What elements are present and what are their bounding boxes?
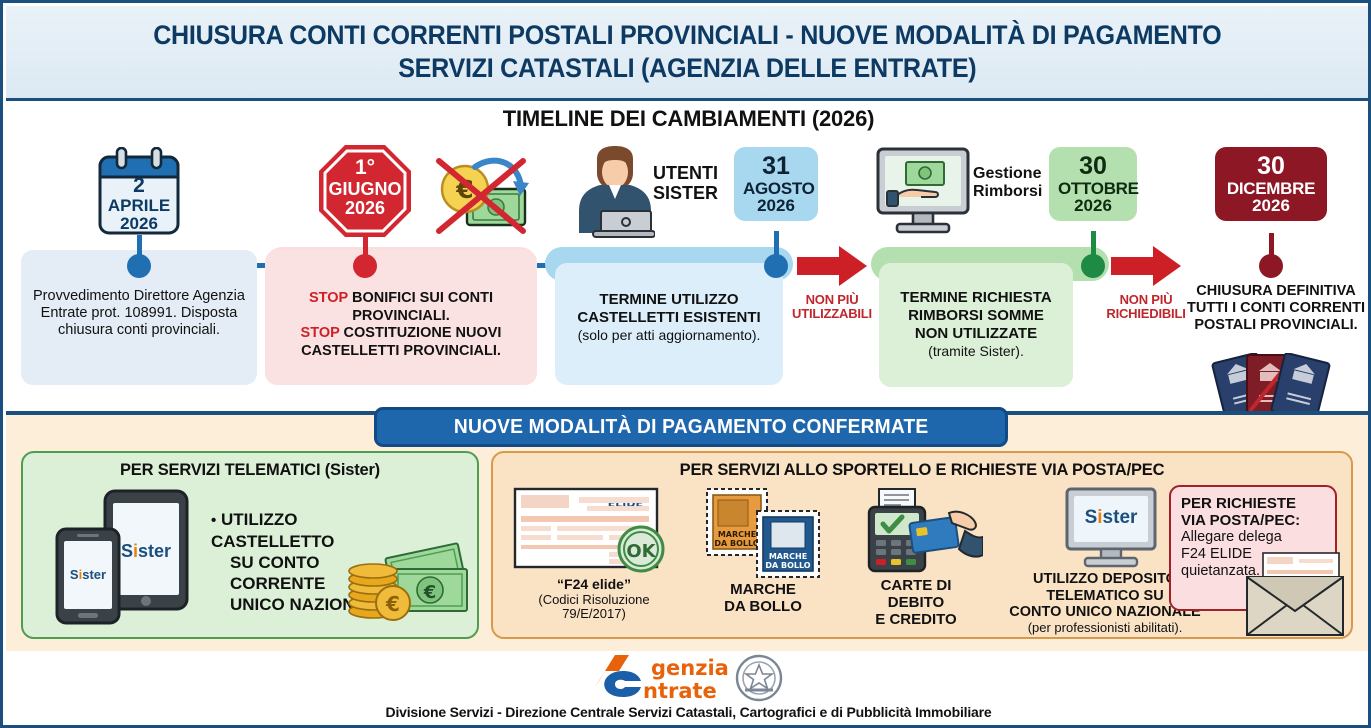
ottobre-title-l1: TERMINE RICHIESTA xyxy=(900,289,1051,306)
gestione-rimborsi-l2: Rimborsi xyxy=(973,183,1042,200)
f24-cap-l2: (Codici Risoluzione xyxy=(538,592,649,607)
ottobre-note: (tramite Sister). xyxy=(888,343,1064,360)
svg-text:DA BOLLO: DA BOLLO xyxy=(765,561,810,570)
pos-card-terminal-icon xyxy=(851,487,983,575)
gestione-rimborsi-label: Gestione Rimborsi xyxy=(973,165,1059,201)
panel-servizi-telematici: PER SERVIZI TELEMATICI (Sister) SiSister… xyxy=(21,451,479,639)
infographic-page: CHIUSURA CONTI CORRENTI POSTALI PROVINCI… xyxy=(0,0,1371,728)
f24-elide-form-icon: ELIDE OK xyxy=(513,487,671,573)
dicembre-title-l3: POSTALI PROVINCIALI. xyxy=(1194,317,1357,333)
milestone-node-aprile xyxy=(127,254,151,278)
date-box-ottobre: 30 OTTOBRE 2026 xyxy=(1049,147,1137,221)
utenti-sister-label: UTENTI SISTER xyxy=(653,163,737,203)
logo-word-ntrate: ntrate xyxy=(643,679,717,703)
page-header: CHIUSURA CONTI CORRENTI POSTALI PROVINCI… xyxy=(6,6,1368,101)
milestone-node-dicembre xyxy=(1259,254,1283,278)
payment-item-carte: CARTE DI DEBITO E CREDITO xyxy=(831,487,1001,628)
coins-banknotes-euro-icon: € € xyxy=(343,535,469,623)
deposito-cap-l2: TELEMATICO SU xyxy=(1046,588,1163,604)
f24-cap-bold: “F24 elide” xyxy=(557,576,631,592)
milestone-card-giugno: STOP BONIFICI SUI CONTI PROVINCIALI. STO… xyxy=(265,250,537,385)
gestione-rimborsi-l1: Gestione xyxy=(973,165,1041,182)
date-day-aprile: 2 xyxy=(91,175,187,197)
timeline-title: TIMELINE DEI CAMBIAMENTI (2026) xyxy=(3,106,1371,132)
panel-right-title: PER SERVIZI ALLO SPORTELLO E RICHIESTE V… xyxy=(493,461,1351,480)
milestone-node-ottobre xyxy=(1081,254,1105,278)
arrow-label-2-l2: RICHIEDIBILI xyxy=(1106,306,1185,321)
milestone-giugno-text: STOP BONIFICI SUI CONTI PROVINCIALI. STO… xyxy=(274,290,528,361)
svg-text:DA BOLLO: DA BOLLO xyxy=(714,539,759,548)
milestone-node-agosto xyxy=(764,254,788,278)
payment-item-marche: MARCHE DA BOLLO MARCHE DA BOLLO MARCHE D… xyxy=(683,487,843,615)
ottobre-title-l2: RIMBORSI SOMME xyxy=(908,307,1044,324)
sister-monitor-icon: Sister xyxy=(1063,487,1159,569)
date-day-ottobre: 30 xyxy=(1058,154,1128,180)
ok-badge: OK xyxy=(626,541,656,562)
marche-cap-l2: DA BOLLO xyxy=(724,598,802,615)
page-title: CHIUSURA CONTI CORRENTI POSTALI PROVINCI… xyxy=(129,19,1246,85)
calendar-icon: 2 APRILE 2026 xyxy=(91,147,187,239)
svg-text:MARCHE: MARCHE xyxy=(769,552,807,561)
stop-keyword-2: STOP xyxy=(301,325,340,341)
giugno-line1: BONIFICI SUI CONTI xyxy=(348,290,493,306)
agosto-title-l2: CASTELLETTI ESISTENTI xyxy=(577,309,760,326)
deposito-cap-l4: (per professionisti abilitati). xyxy=(1028,620,1183,635)
footer-subtitle: Divisione Servizi - Direzione Centrale S… xyxy=(3,704,1371,720)
arrow-label-1: NON PIÙ UTILIZZABILI xyxy=(789,293,875,322)
bullet-l1: UTILIZZO CASTELLETTO xyxy=(211,510,334,551)
timeline-section: Provvedimento Direttore Agenzia Entrate … xyxy=(3,135,1371,403)
deposito-cap-l1: UTILIZZO DEPOSITO xyxy=(1033,571,1177,587)
arrow-non-piu-richiedibili xyxy=(1111,245,1181,287)
envelope-document-icon xyxy=(1239,551,1351,639)
date-year-giugno: 2026 xyxy=(317,199,413,218)
stamps-icon: MARCHE DA BOLLO MARCHE DA BOLLO xyxy=(705,487,821,579)
note-title-l1: PER RICHIESTE xyxy=(1181,495,1296,512)
carte-cap-l1: CARTE DI xyxy=(881,577,952,594)
refund-monitor-icon xyxy=(873,145,973,237)
dicembre-title-l1: CHIUSURA DEFINITIVA xyxy=(1196,283,1356,299)
svg-text:€: € xyxy=(385,592,400,616)
passbooks-icon xyxy=(1195,353,1345,419)
payment-methods-banner: NUOVE MODALITÀ DI PAGAMENTO CONFERMATE xyxy=(374,407,1008,447)
giugno-line2: PROVINCIALI. xyxy=(352,308,449,324)
page-title-line1: CHIUSURA CONTI CORRENTI POSTALI PROVINCI… xyxy=(153,20,1221,50)
agenzia-entrate-logo: genzia ntrate xyxy=(589,653,799,703)
date-year-aprile: 2026 xyxy=(91,215,187,233)
date-month-dicembre: DICEMBRE xyxy=(1224,180,1318,197)
svg-text:MARCHE: MARCHE xyxy=(718,530,756,539)
date-month-agosto: AGOSTO xyxy=(743,180,809,197)
milestone-dicembre-text: CHIUSURA DEFINITIVA TUTTI I CONTI CORREN… xyxy=(1181,283,1371,334)
utenti-sister-l2: SISTER xyxy=(653,183,718,203)
stop-sign-icon: 1° GIUGNO 2026 xyxy=(317,143,413,239)
date-month-ottobre: OTTOBRE xyxy=(1058,180,1128,197)
ottobre-title-l3: NON UTILIZZATE xyxy=(915,325,1037,342)
milestone-aprile-text: Provvedimento Direttore Agenzia Entrate … xyxy=(30,288,248,339)
no-bank-transfer-icon: € xyxy=(423,149,531,239)
svg-text:€: € xyxy=(423,582,437,603)
panel-servizi-sportello: PER SERVIZI ALLO SPORTELLO E RICHIESTE V… xyxy=(491,451,1353,639)
stop-keyword-1: STOP xyxy=(309,290,348,306)
date-month-aprile: APRILE xyxy=(91,197,187,215)
date-month-giugno: GIUGNO xyxy=(317,180,413,199)
date-year-dicembre: 2026 xyxy=(1224,197,1318,214)
date-year-agosto: 2026 xyxy=(743,197,809,214)
payment-methods-banner-label: NUOVE MODALITÀ DI PAGAMENTO CONFERMATE xyxy=(454,416,928,439)
arrow-label-2: NON PIÙ RICHIEDIBILI xyxy=(1103,293,1189,322)
dicembre-title-l2: TUTTI I CONTI CORRENTI xyxy=(1187,300,1365,316)
page-footer: genzia ntrate Divisione Servizi - Direzi… xyxy=(3,651,1371,728)
giugno-line4: CASTELLETTI PROVINCIALI. xyxy=(301,343,501,359)
carte-cap-l2: DEBITO xyxy=(888,594,944,611)
woman-laptop-icon xyxy=(575,145,655,241)
date-day-giugno: 1° xyxy=(317,157,413,180)
agosto-note: (solo per atti aggiornamento). xyxy=(564,327,774,344)
page-title-line2: SERVIZI CATASTALI (AGENZIA DELLE ENTRATE… xyxy=(398,53,976,83)
carte-cap-l3: E CREDITO xyxy=(875,611,956,628)
arrow-label-2-l1: NON PIÙ xyxy=(1120,292,1173,307)
arrow-non-piu-utilizzabili xyxy=(797,245,867,287)
date-box-dicembre: 30 DICEMBRE 2026 xyxy=(1215,147,1327,221)
marche-cap-l1: MARCHE xyxy=(730,581,796,598)
logo-word-genzia: genzia xyxy=(651,656,729,680)
utenti-sister-l1: UTENTI xyxy=(653,163,718,183)
arrow-label-1-l2: UTILIZZABILI xyxy=(792,306,872,321)
arrow-label-1-l1: NON PIÙ xyxy=(806,292,859,307)
note-title-l2: VIA POSTA/PEC: xyxy=(1181,512,1300,529)
milestone-card-agosto: TERMINE UTILIZZO CASTELLETTI ESISTENTI (… xyxy=(555,263,783,385)
giugno-line3: COSTITUZIONE NUOVI xyxy=(340,325,502,341)
agosto-title-l1: TERMINE UTILIZZO xyxy=(599,291,738,308)
milestone-node-giugno xyxy=(353,254,377,278)
note-body-l1: Allegare delega xyxy=(1181,529,1282,545)
italian-republic-emblem xyxy=(737,656,781,700)
milestone-card-ottobre: TERMINE RICHIESTA RIMBORSI SOMME NON UTI… xyxy=(879,263,1073,387)
date-day-dicembre: 30 xyxy=(1224,154,1318,180)
phone-tablet-sister-icon: SiSisterster Sister xyxy=(43,489,203,625)
date-year-ottobre: 2026 xyxy=(1058,197,1128,214)
date-day-agosto: 31 xyxy=(743,154,809,180)
payment-item-f24: ELIDE OK “F24 elide” (Codici R xyxy=(503,487,685,622)
panel-left-title: PER SERVIZI TELEMATICI (Sister) xyxy=(23,461,477,480)
date-box-agosto: 31 AGOSTO 2026 xyxy=(734,147,818,221)
f24-cap-l3: 79/E/2017) xyxy=(562,606,626,621)
